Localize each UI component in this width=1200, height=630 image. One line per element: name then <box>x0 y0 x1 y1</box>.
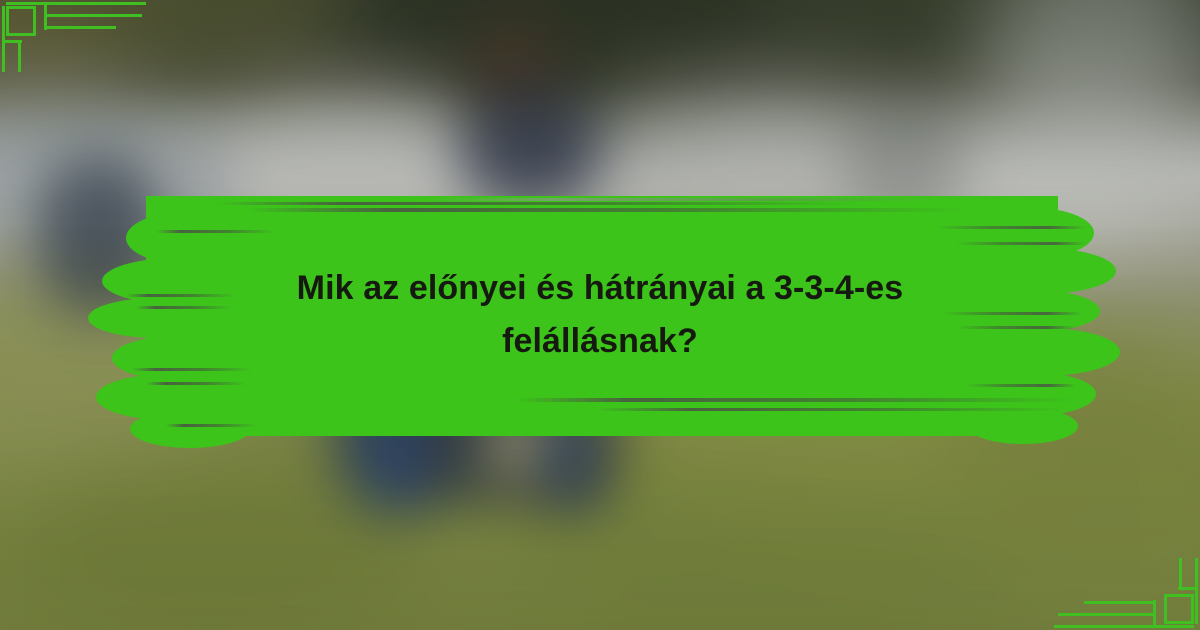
ornament-line-vertical <box>18 40 21 72</box>
ornament-line-horizontal <box>1054 625 1194 628</box>
brush-streak <box>146 382 246 385</box>
brush-streak <box>132 368 252 371</box>
brush-streak <box>596 408 1066 411</box>
brush-edge-lobe <box>130 410 250 448</box>
ornament-line-vertical <box>44 2 47 30</box>
brush-streak <box>936 226 1086 229</box>
brush-streak <box>216 202 856 205</box>
ornament-line-horizontal <box>44 26 116 29</box>
ornament-line-vertical <box>1153 600 1156 628</box>
brush-streak <box>166 424 256 427</box>
ornament-square <box>6 6 36 36</box>
bottom-right-corner-ornament <box>1048 558 1200 630</box>
top-left-corner-ornament <box>0 0 152 72</box>
ornament-square <box>1164 594 1194 624</box>
ornament-line-horizontal <box>6 2 146 5</box>
headline-line-2: felállásnak? <box>216 315 984 368</box>
headline-text: Mik az előnyei és hátrányai a 3-3-4-es f… <box>96 262 1104 367</box>
ornament-line-horizontal <box>1178 587 1198 590</box>
brush-streak <box>516 398 1076 402</box>
ornament-line-vertical <box>1195 558 1198 624</box>
ornament-line-horizontal <box>1084 601 1156 604</box>
headline-banner: Mik az előnyei és hátrányai a 3-3-4-es f… <box>96 186 1104 448</box>
brush-edge-lobe <box>126 212 246 264</box>
brush-streak <box>246 208 966 212</box>
headline-line-1: Mik az előnyei és hátrányai a 3-3-4-es <box>216 262 984 315</box>
brush-edge-lobe <box>968 408 1078 444</box>
brush-streak <box>426 198 946 201</box>
brush-streak <box>956 242 1086 245</box>
ornament-line-horizontal <box>2 40 22 43</box>
ornament-line-vertical <box>1179 558 1182 590</box>
ornament-line-horizontal <box>44 14 142 17</box>
brush-streak <box>966 384 1076 387</box>
ornament-line-vertical <box>2 6 5 72</box>
ornament-line-horizontal <box>1058 613 1156 616</box>
brush-streak <box>156 230 276 233</box>
